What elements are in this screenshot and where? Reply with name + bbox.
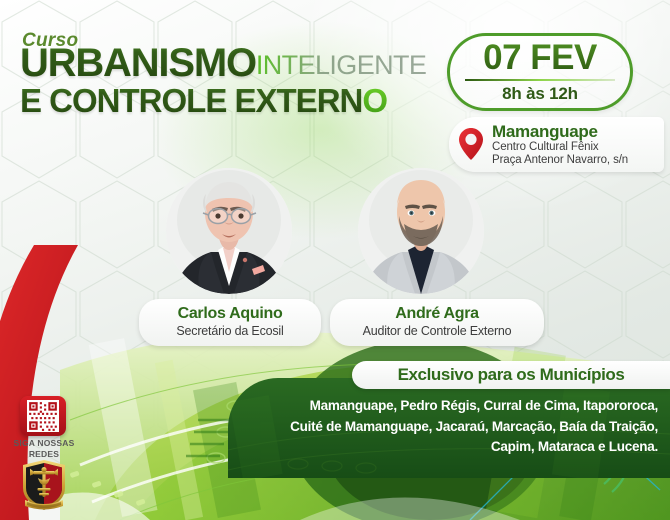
title-inteligente: INTELIGENTE: [256, 50, 426, 80]
municipalities-list: Mamanguape, Pedro Régis, Curral de Cima,…: [248, 396, 658, 458]
speaker-photo-1: [166, 168, 292, 294]
location-venue: Centro Cultural Fênix: [492, 141, 628, 154]
speaker-role: Secretário da Ecosil: [155, 324, 305, 339]
location-address: Praça Antenor Navarro, s/n: [492, 154, 628, 167]
qr-label-line-1: SIGA NOSSAS: [6, 438, 82, 449]
qr-code-icon: [24, 400, 62, 432]
speaker-photo-2: [358, 168, 484, 294]
title-accent-o: O: [362, 82, 387, 119]
location-city: Mamanguape: [492, 122, 628, 141]
municipalities-line-3: Capim, Mataraca e Lucena.: [248, 437, 658, 458]
speaker-name: Carlos Aquino: [155, 305, 305, 324]
speaker-nameplate-1: Carlos Aquino Secretário da Ecosil: [139, 299, 321, 346]
title-controle-externo: E CONTROLE EXTERN: [20, 82, 362, 119]
location-bar: Mamanguape Centro Cultural Fênix Praça A…: [449, 117, 664, 172]
municipalities-heading-pill: Exclusivo para os Municípios: [352, 361, 670, 389]
speaker-name: André Agra: [346, 305, 528, 324]
municipalities-line-1: Mamanguape, Pedro Régis, Curral de Cima,…: [248, 396, 658, 417]
title-line-1: URBANISMOINTELIGENTE: [20, 44, 460, 82]
promo-banner: Curso URBANISMOINTELIGENTE E CONTROLE EX…: [0, 0, 670, 520]
page-title: URBANISMOINTELIGENTE E CONTROLE EXTERNO: [20, 44, 460, 117]
title-line-2: E CONTROLE EXTERNO: [20, 84, 460, 117]
location-text: Mamanguape Centro Cultural Fênix Praça A…: [492, 122, 628, 167]
date-time: 8h às 12h: [502, 84, 578, 104]
map-pin-icon: [458, 127, 484, 161]
municipalities-line-2: Cuité de Mamanguape, Jacaraú, Marcação, …: [248, 417, 658, 438]
date-badge: 07 FEV 8h às 12h: [447, 33, 633, 111]
municipalities-heading: Exclusivo para os Municípios: [398, 365, 625, 385]
speaker-nameplate-2: André Agra Auditor de Controle Externo: [330, 299, 544, 346]
date-divider: [465, 79, 615, 81]
title-urbanismo: URBANISMO: [20, 41, 256, 85]
tribunal-de-contas-crest-icon: [20, 458, 68, 516]
date-day: 07 FEV: [483, 40, 597, 75]
qr-code-badge[interactable]: [20, 396, 66, 436]
qr-label: SIGA NOSSAS REDES: [6, 438, 82, 459]
speaker-role: Auditor de Controle Externo: [346, 324, 528, 339]
